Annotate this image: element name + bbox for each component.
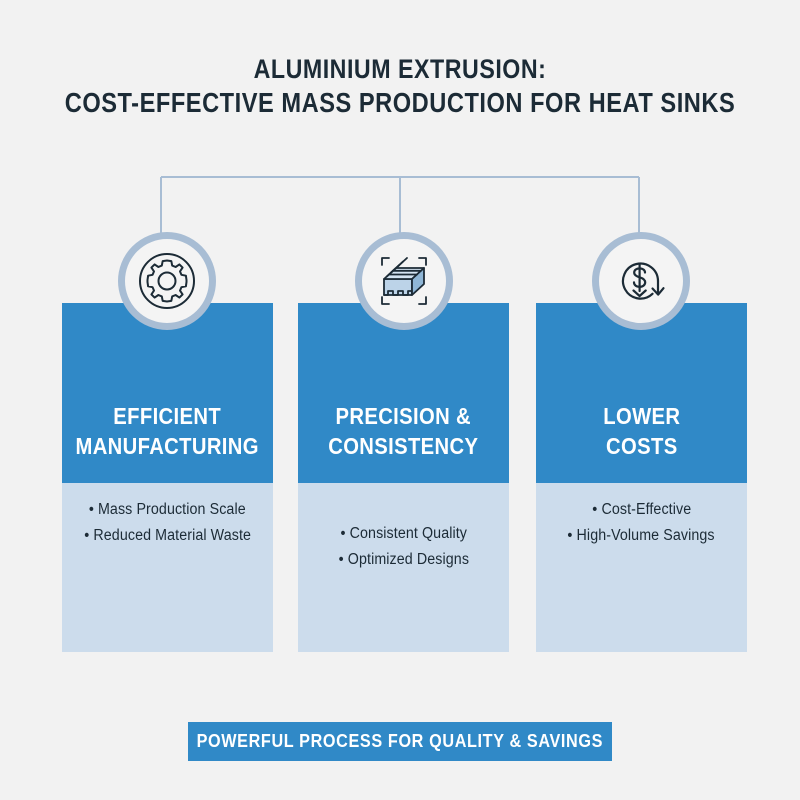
list-item: • Optimized Designs: [338, 547, 468, 573]
list-item: • Consistent Quality: [340, 521, 467, 547]
icon-badge-1: [118, 232, 216, 330]
icon-badge-2: [355, 232, 453, 330]
column-efficient-manufacturing[interactable]: EFFICIENT MANUFACTURING • Mass Productio…: [62, 303, 273, 652]
column-body-3: • Cost-Effective • High-Volume Savings: [536, 483, 747, 652]
footer-banner-text: POWERFUL PROCESS FOR QUALITY & SAVINGS: [197, 731, 603, 752]
infographic-root: ALUMINIUM EXTRUSION: COST-EFFECTIVE MASS…: [0, 0, 800, 800]
column-header-1: EFFICIENT MANUFACTURING: [62, 303, 273, 483]
column-heading-1: EFFICIENT MANUFACTURING: [76, 401, 259, 461]
column-body-2: • Consistent Quality • Optimized Designs: [298, 483, 509, 652]
dollar-down-arrow-icon: [610, 250, 672, 312]
list-item: • Reduced Material Waste: [84, 523, 251, 549]
list-item: • Mass Production Scale: [89, 497, 246, 523]
column-header-3: LOWER COSTS: [536, 303, 747, 483]
icon-badge-3: [592, 232, 690, 330]
footer-banner: POWERFUL PROCESS FOR QUALITY & SAVINGS: [188, 722, 612, 761]
column-precision-consistency[interactable]: PRECISION & CONSISTENCY • Consistent Qua…: [298, 303, 509, 652]
column-heading-3: LOWER COSTS: [603, 401, 680, 461]
gear-icon: [137, 251, 197, 311]
column-lower-costs[interactable]: LOWER COSTS • Cost-Effective • High-Volu…: [536, 303, 747, 652]
columns-container: EFFICIENT MANUFACTURING • Mass Productio…: [0, 0, 800, 800]
column-header-2: PRECISION & CONSISTENCY: [298, 303, 509, 483]
column-body-1: • Mass Production Scale • Reduced Materi…: [62, 483, 273, 652]
heat-sink-extrusion-icon: [372, 249, 436, 313]
list-item: • Cost-Effective: [592, 497, 691, 523]
column-heading-2: PRECISION & CONSISTENCY: [328, 401, 478, 461]
list-item: • High-Volume Savings: [568, 523, 715, 549]
